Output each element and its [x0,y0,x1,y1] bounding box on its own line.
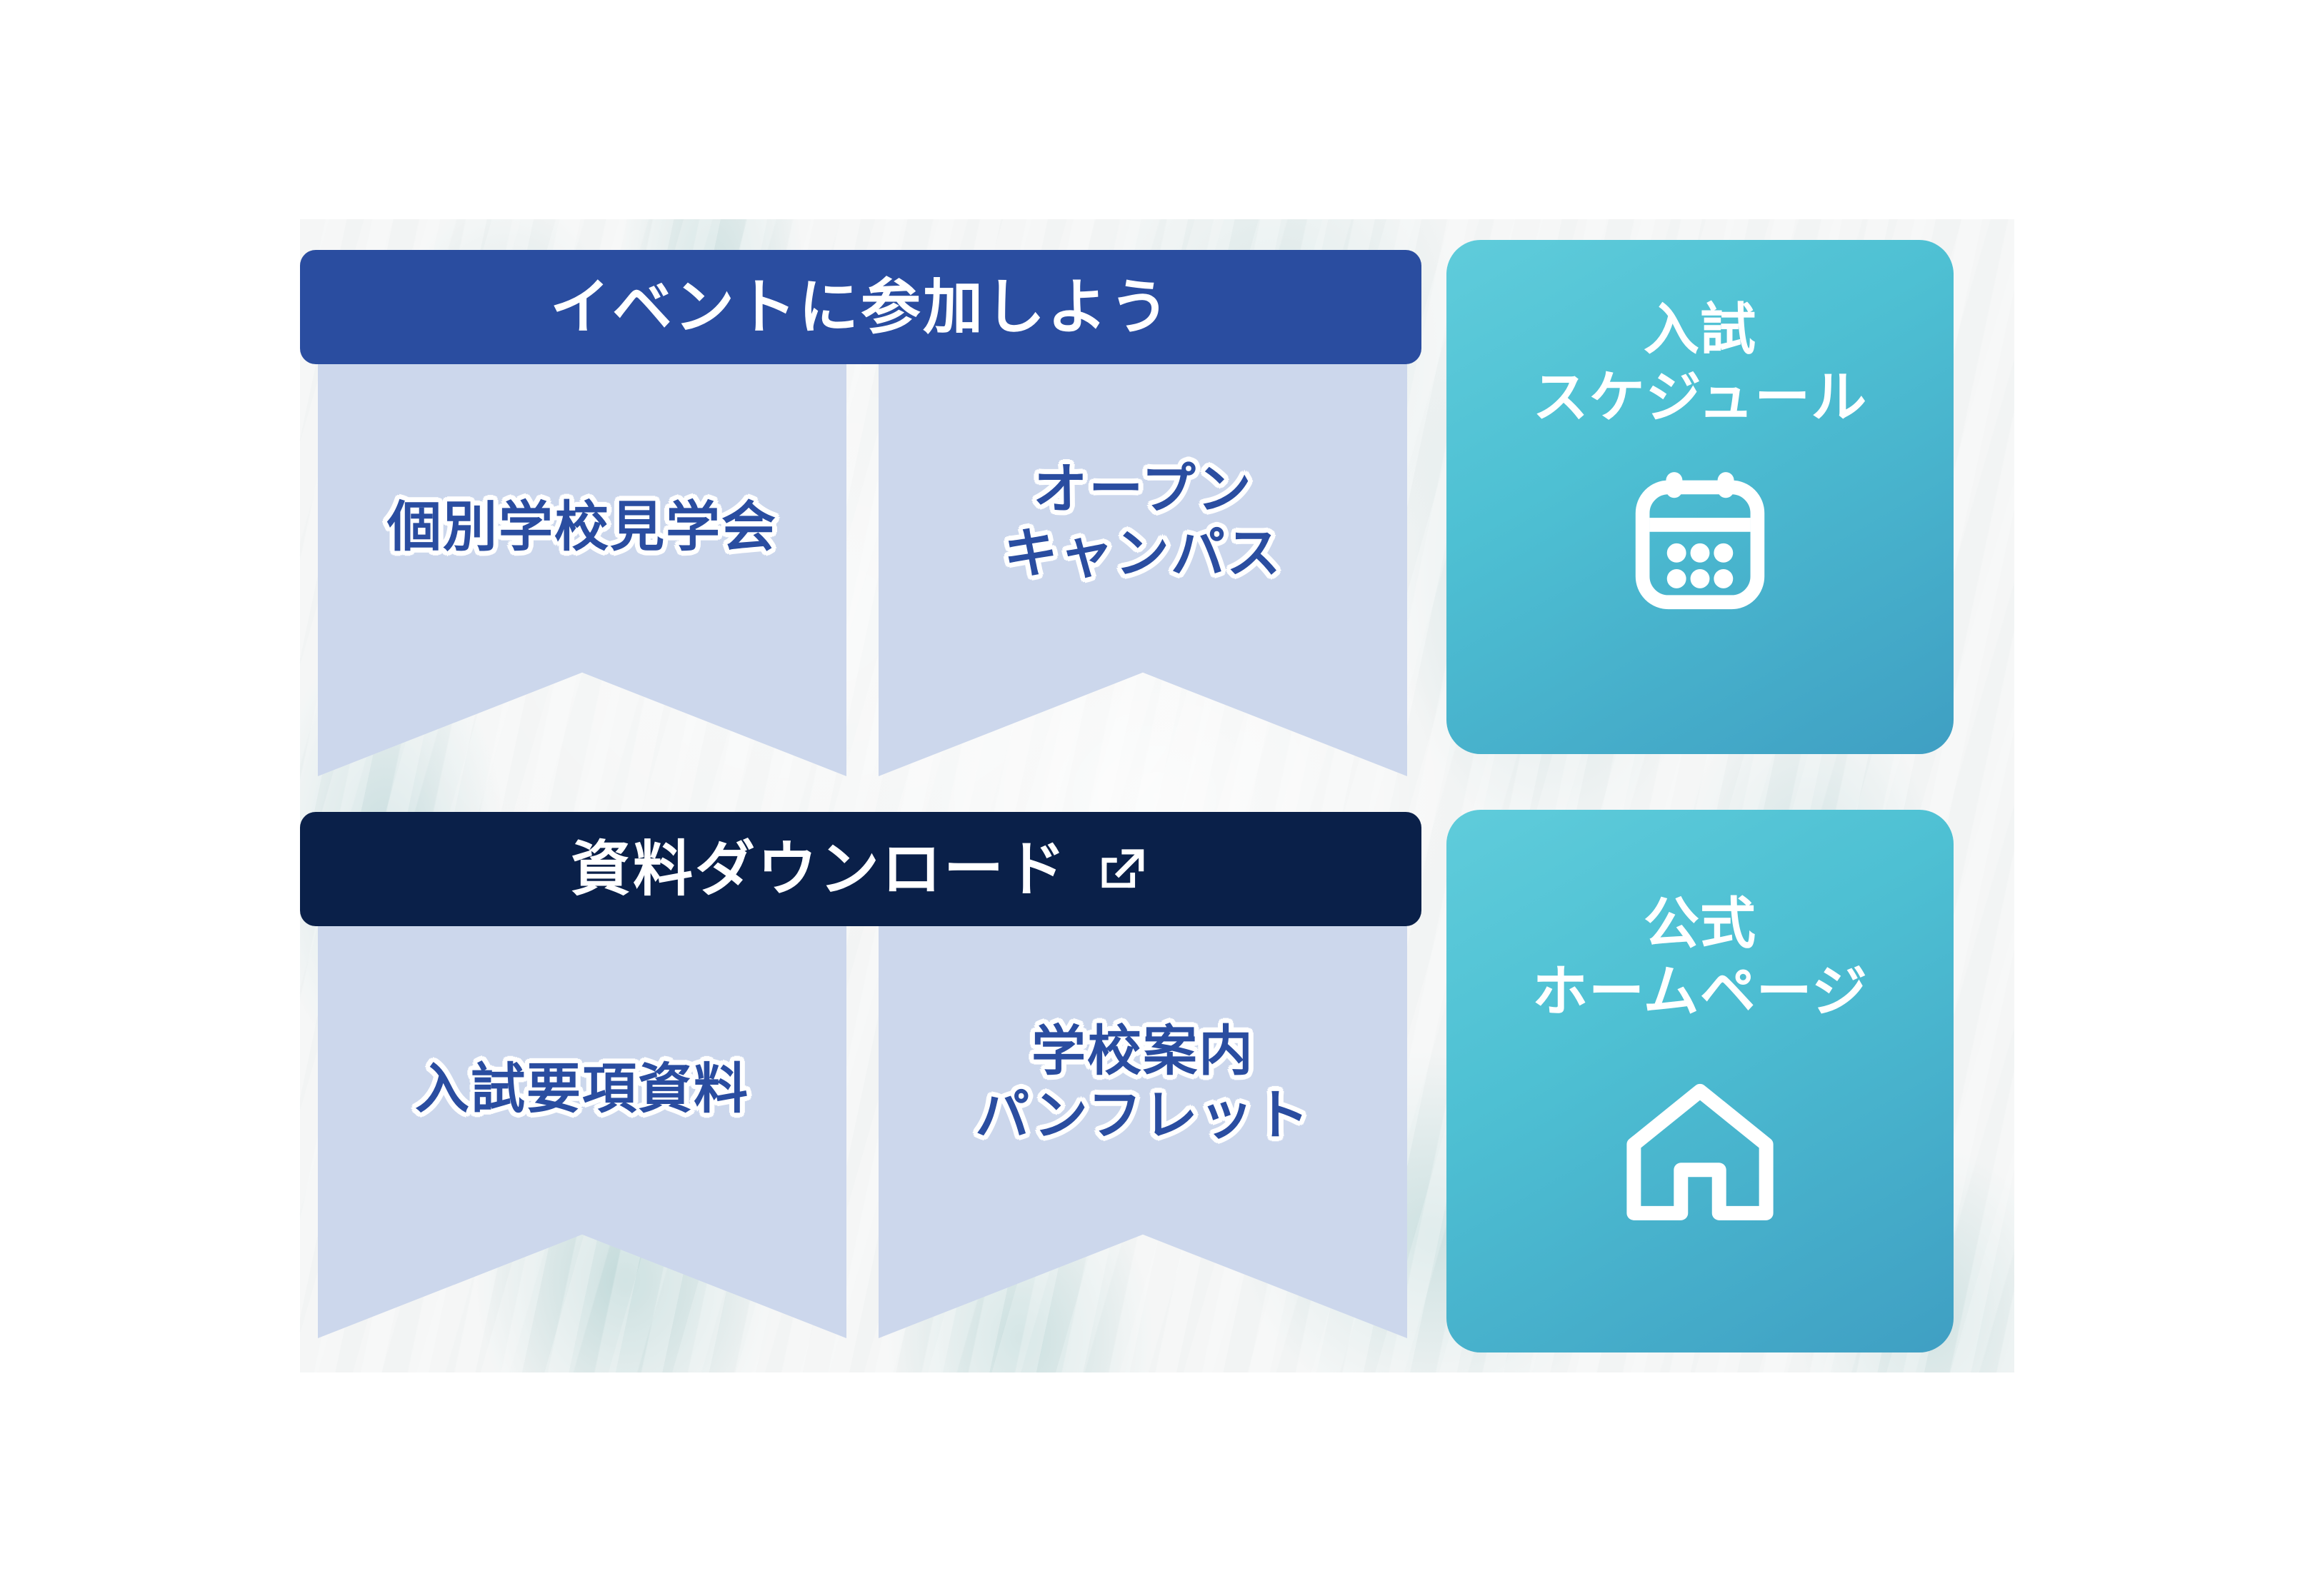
ribbon-tile-content: 入試要項資料 [318,1058,846,1122]
card-title-line2: スケジュール [1533,363,1868,431]
content-panel: イベントに参加しよう 個別学校見学会 オープン キャンパス 資料ダウンロード [300,219,2014,1372]
card-title-line2: ホームページ [1532,958,1868,1025]
calendar-icon [1625,463,1775,613]
right-column: 入試 スケジュール [1446,221,1954,1372]
ribbon-tile-label-line1: 学校案内 [896,1020,1390,1084]
ribbon-tile-label-line2: パンフレット [896,1084,1390,1148]
card-title-line1: 公式 [1644,890,1756,958]
section-header-events[interactable]: イベントに参加しよう [300,250,1421,364]
page-stage: イベントに参加しよう 個別学校見学会 オープン キャンパス 資料ダウンロード [0,0,2315,1596]
home-icon [1619,1067,1781,1230]
ribbon-tile-content: オープン キャンパス [879,458,1407,586]
ribbon-tile-kobetsu-gakko-kengakukai[interactable]: 個別学校見学会 [318,305,846,776]
section-header-download[interactable]: 資料ダウンロード [300,812,1421,926]
ribbon-tile-content: 学校案内 パンフレット [879,1020,1407,1148]
section-header-download-title: 資料ダウンロード [571,839,1068,899]
ribbon-tile-label: 個別学校見学会 [335,496,829,560]
card-title-line1: 入試 [1644,296,1756,363]
external-link-icon [1095,841,1151,897]
left-column: イベントに参加しよう 個別学校見学会 オープン キャンパス 資料ダウンロード [300,219,1429,1372]
ribbon-tile-label-line1: オープン [896,458,1390,522]
section-header-events-title: イベントに参加しよう [550,277,1171,337]
ribbon-tile-label-line2: キャンパス [896,522,1390,586]
ribbon-tile-nyushi-yoko-shiryo[interactable]: 入試要項資料 [318,867,846,1338]
card-koshiki-homepage[interactable]: 公式 ホームページ [1446,810,1954,1352]
ribbon-tile-content: 個別学校見学会 [318,496,846,560]
ribbon-tile-gakko-annai-pamphlet[interactable]: 学校案内 パンフレット [879,867,1407,1338]
ribbon-tile-open-campus[interactable]: オープン キャンパス [879,305,1407,776]
card-nyushi-schedule[interactable]: 入試 スケジュール [1446,240,1954,754]
ribbon-tile-label: 入試要項資料 [335,1058,829,1122]
